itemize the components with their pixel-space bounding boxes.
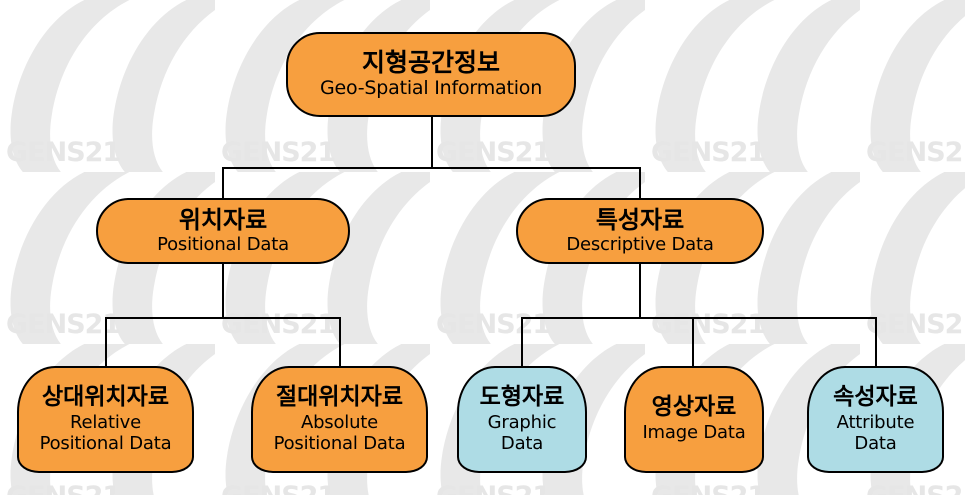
connector-drop-descriptive [639, 167, 641, 200]
node-label-ko: 특성자료 [596, 207, 684, 234]
node-label-ko: 상대위치자료 [42, 385, 169, 411]
watermark-label: GENS21 [221, 137, 335, 168]
watermark-tile: GENS21 [645, 0, 860, 172]
watermark-label: GENS21 [6, 481, 120, 495]
node-label-en: Positional Data [157, 235, 289, 255]
node-label-ko: 속성자료 [833, 385, 918, 411]
connector-drop-graphic [521, 317, 523, 367]
node-label-ko: 영상자료 [652, 395, 737, 421]
node-descriptive-data[interactable]: 특성자료 Descriptive Data [516, 198, 764, 264]
watermark-label: GENS21 [221, 309, 335, 340]
node-label-en-line1: Image Data [642, 423, 745, 443]
watermark-swoosh-icon [645, 0, 860, 172]
node-label-en: Geo-Spatial Information [320, 78, 542, 99]
watermark-label: GENS21 [6, 309, 120, 340]
node-label-ko: 위치자료 [179, 207, 267, 234]
node-image-data[interactable]: 영상자료 Image Data [624, 366, 764, 473]
node-label-ko: 지형공간정보 [362, 49, 500, 77]
node-label-en-line2: Data [854, 434, 896, 454]
node-label-ko: 절대위치자료 [276, 385, 403, 411]
watermark-label: GENS21 [866, 481, 965, 495]
connector-level2-bar [222, 167, 641, 169]
node-graphic-data[interactable]: 도형자료 Graphic Data [457, 366, 587, 473]
node-label-en-line2: Positional Data [274, 434, 406, 454]
connector-drop-absolute [339, 317, 341, 367]
node-label-en-line1: Absolute [301, 413, 378, 433]
node-relative-positional-data[interactable]: 상대위치자료 Relative Positional Data [17, 366, 194, 473]
watermark-label: GENS21 [651, 137, 765, 168]
watermark-label: GENS21 [221, 481, 335, 495]
connector-positional-bar [105, 317, 341, 319]
watermark-label: GENS21 [866, 137, 965, 168]
node-label-en-line2: Positional Data [40, 434, 172, 454]
watermark-tile: GENS21 [860, 0, 965, 172]
watermark-swoosh-icon [0, 0, 215, 172]
watermark-label: GENS21 [436, 481, 550, 495]
node-geo-spatial-information[interactable]: 지형공간정보 Geo-Spatial Information [286, 32, 576, 117]
diagram-canvas: GENS21GENS21GENS21GENS21GENS21GENS21GENS… [0, 0, 965, 495]
watermark-label: GENS21 [651, 481, 765, 495]
node-absolute-positional-data[interactable]: 절대위치자료 Absolute Positional Data [251, 366, 428, 473]
connector-drop-image [692, 317, 694, 367]
connector-descriptive-bar [521, 317, 877, 319]
node-label-en-line1: Graphic [488, 413, 557, 433]
node-attribute-data[interactable]: 속성자료 Attribute Data [807, 366, 944, 473]
watermark-tile: GENS21 [0, 0, 215, 172]
connector-drop-attribute [875, 317, 877, 367]
connector-drop-relative [105, 317, 107, 367]
connector-positional-stem [222, 262, 224, 318]
watermark-label: GENS21 [866, 309, 965, 340]
node-positional-data[interactable]: 위치자료 Positional Data [96, 198, 350, 264]
watermark-label: GENS21 [436, 309, 550, 340]
watermark-label: GENS21 [6, 137, 120, 168]
node-label-en-line1: Attribute [837, 413, 915, 433]
connector-drop-positional [222, 167, 224, 200]
node-label-en: Descriptive Data [566, 235, 713, 255]
node-label-en-line1: Relative [70, 413, 141, 433]
watermark-label: GENS21 [436, 137, 550, 168]
node-label-ko: 도형자료 [480, 385, 565, 411]
connector-root-stem [431, 115, 433, 169]
watermark-swoosh-icon [860, 0, 965, 172]
node-label-en-line2: Data [501, 434, 543, 454]
connector-descriptive-stem [639, 262, 641, 318]
watermark-label: GENS21 [651, 309, 765, 340]
